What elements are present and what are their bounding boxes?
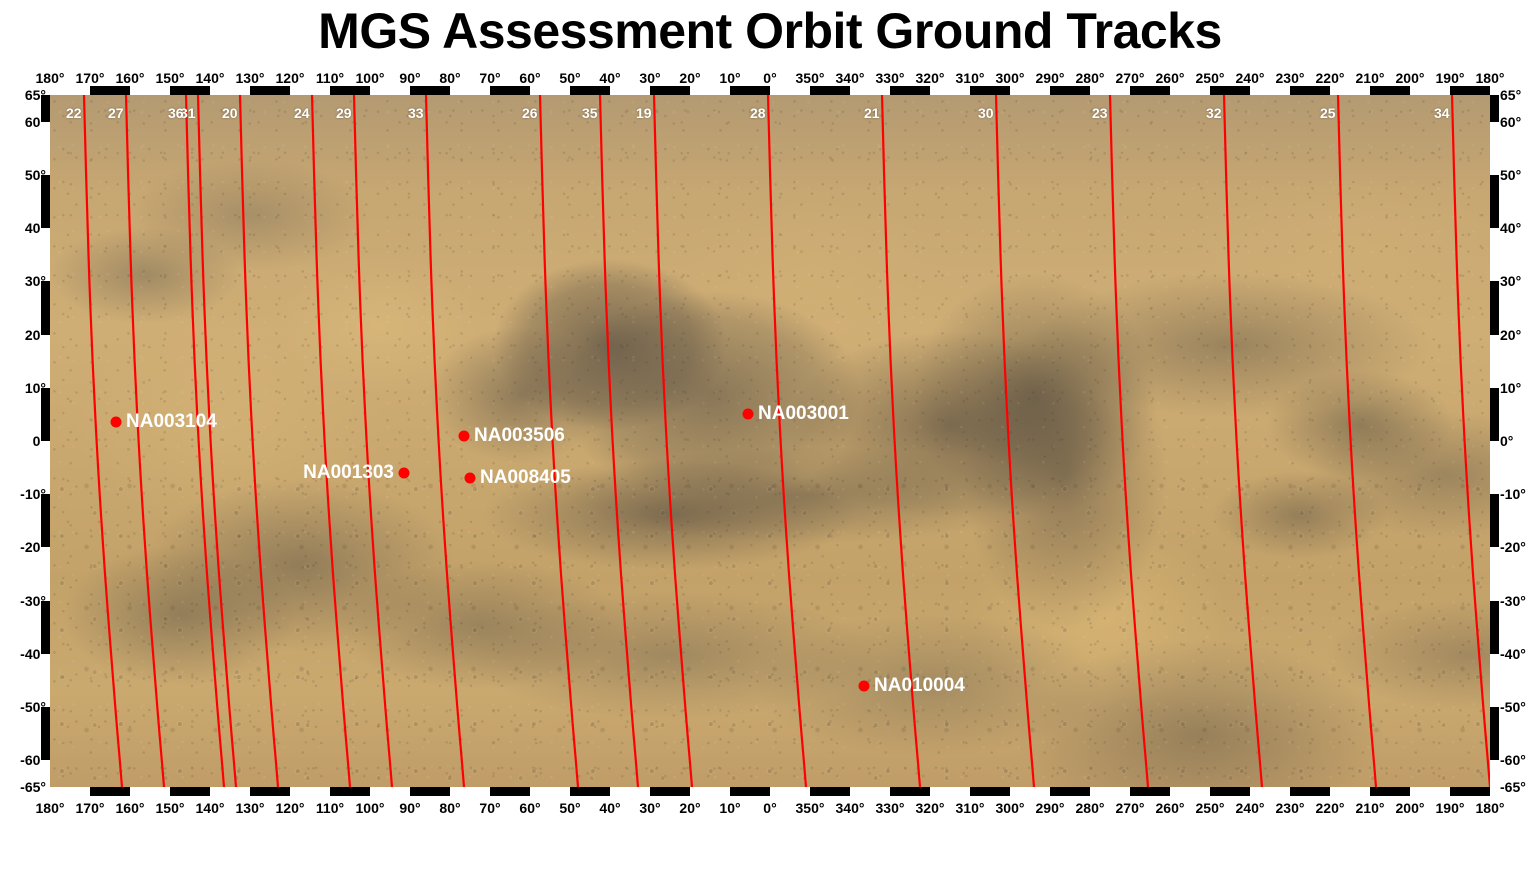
border-tick-cell	[1450, 787, 1490, 796]
border-tick-cell	[330, 86, 370, 95]
border-tick-cell	[1490, 95, 1499, 122]
ground-track-number: 29	[336, 105, 352, 121]
border-tick-cell	[1490, 335, 1499, 388]
border-tick-cell	[1290, 86, 1330, 95]
longitude-tick-label: 350°	[796, 800, 825, 816]
longitude-tick-label: 80°	[439, 800, 460, 816]
border-tick-cell	[130, 86, 170, 95]
longitude-tick-label: 10°	[719, 800, 740, 816]
latitude-tick-label: 0°	[1500, 433, 1513, 449]
longitude-tick-label: 120°	[276, 800, 305, 816]
border-tick-cell	[1250, 787, 1290, 796]
ground-track-line	[1338, 95, 1376, 787]
ground-track-number: 34	[1434, 105, 1450, 121]
border-tick-cell	[1490, 494, 1499, 547]
ground-track-number: 26	[522, 105, 538, 121]
longitude-tick-label: 230°	[1276, 800, 1305, 816]
border-tick-cell	[610, 86, 650, 95]
latitude-tick-label: -20°	[20, 539, 46, 555]
border-tick-cell	[1490, 281, 1499, 334]
landing-site-label: NA008405	[480, 467, 571, 489]
border-tick-cell	[1250, 86, 1290, 95]
longitude-tick-label: 340°	[836, 800, 865, 816]
border-tick-cell	[1370, 787, 1410, 796]
ground-track-number: 36	[168, 105, 184, 121]
longitude-axis-bottom: 180°170°160°150°140°130°120°110°100°90°8…	[0, 800, 1540, 816]
border-tick-cell	[730, 787, 770, 796]
longitude-tick-label: 60°	[519, 70, 540, 86]
border-tick-cell	[690, 86, 730, 95]
latitude-tick-label: 10°	[1500, 380, 1521, 396]
longitude-tick-label: 70°	[479, 70, 500, 86]
longitude-tick-label: 280°	[1076, 70, 1105, 86]
longitude-tick-label: 270°	[1116, 70, 1145, 86]
border-tick-cell	[50, 86, 90, 95]
longitude-tick-label: 270°	[1116, 800, 1145, 816]
ground-track-number: 22	[66, 105, 82, 121]
longitude-tick-label: 310°	[956, 70, 985, 86]
longitude-tick-label: 50°	[559, 70, 580, 86]
longitude-tick-label: 130°	[236, 70, 265, 86]
border-tick-cell	[930, 86, 970, 95]
ground-track-line	[312, 95, 350, 787]
border-tick-cell	[370, 787, 410, 796]
longitude-tick-label: 170°	[76, 800, 105, 816]
mars-map-canvas[interactable]: 223124332635192821302332253427362029NA00…	[50, 95, 1490, 787]
longitude-tick-label: 90°	[399, 70, 420, 86]
latitude-tick-label: 30°	[25, 273, 46, 289]
border-tick-cell	[1490, 654, 1499, 707]
latitude-tick-label: -40°	[1500, 646, 1526, 662]
ground-track-lines	[50, 95, 1490, 787]
border-tick-cell	[1490, 601, 1499, 654]
longitude-tick-label: 290°	[1036, 70, 1065, 86]
longitude-tick-label: 120°	[276, 70, 305, 86]
border-tick-cell	[850, 86, 890, 95]
border-tick-cell	[330, 787, 370, 796]
latitude-tick-label: -50°	[1500, 699, 1526, 715]
latitude-tick-label: -40°	[20, 646, 46, 662]
longitude-tick-label: 130°	[236, 800, 265, 816]
latitude-tick-label: -10°	[1500, 486, 1526, 502]
longitude-tick-label: 90°	[399, 800, 420, 816]
border-tick-cell	[210, 86, 250, 95]
ground-track-line	[240, 95, 278, 787]
border-tick-cell	[170, 787, 210, 796]
latitude-tick-label: -30°	[1500, 593, 1526, 609]
border-tick-cell	[250, 787, 290, 796]
ground-track-line	[654, 95, 692, 787]
latitude-tick-label: 60°	[1500, 114, 1521, 130]
ground-track-line	[186, 95, 224, 787]
ground-track-line	[1224, 95, 1262, 787]
landing-site-label: NA003104	[126, 411, 217, 433]
page-title: MGS Assessment Orbit Ground Tracks	[0, 2, 1540, 60]
longitude-tick-label: 200°	[1396, 70, 1425, 86]
latitude-tick-label: -50°	[20, 699, 46, 715]
border-tick-cell	[810, 86, 850, 95]
border-tick-cell	[890, 787, 930, 796]
longitude-tick-label: 230°	[1276, 70, 1305, 86]
longitude-tick-label: 190°	[1436, 800, 1465, 816]
border-tick-cell	[490, 787, 530, 796]
landing-site-label: NA003001	[758, 403, 849, 425]
longitude-tick-label: 240°	[1236, 800, 1265, 816]
border-tick-cell	[1290, 787, 1330, 796]
longitude-tick-label: 150°	[156, 800, 185, 816]
longitude-tick-label: 170°	[76, 70, 105, 86]
longitude-tick-label: 110°	[316, 70, 344, 86]
longitude-tick-label: 180°	[1476, 70, 1505, 86]
longitude-tick-label: 320°	[916, 70, 945, 86]
ground-track-number: 27	[108, 105, 124, 121]
longitude-tick-label: 280°	[1076, 800, 1105, 816]
ground-track-line	[126, 95, 164, 787]
longitude-tick-label: 340°	[836, 70, 865, 86]
longitude-tick-label: 180°	[36, 800, 65, 816]
border-tick-cell	[1050, 787, 1090, 796]
longitude-tick-label: 30°	[639, 70, 660, 86]
ground-track-line	[198, 95, 236, 787]
ground-track-line	[354, 95, 392, 787]
border-tick-cell	[530, 787, 570, 796]
border-tick-cell	[1170, 787, 1210, 796]
longitude-tick-label: 250°	[1196, 800, 1225, 816]
ground-track-number: 20	[222, 105, 238, 121]
border-tick-cell	[50, 787, 90, 796]
border-tick-cell	[290, 787, 330, 796]
longitude-tick-label: 320°	[916, 800, 945, 816]
border-tick-cell	[1090, 787, 1130, 796]
landing-site-label: NA003506	[474, 425, 565, 447]
border-tick-cell	[1130, 86, 1170, 95]
checkerboard-border-right	[1490, 95, 1499, 787]
latitude-tick-label: -60°	[1500, 752, 1526, 768]
landing-site-marker[interactable]	[743, 409, 754, 420]
border-tick-cell	[410, 787, 450, 796]
longitude-tick-label: 150°	[156, 70, 185, 86]
longitude-tick-label: 70°	[479, 800, 500, 816]
longitude-tick-label: 210°	[1356, 800, 1385, 816]
checkerboard-border-top	[50, 86, 1490, 95]
longitude-tick-label: 300°	[996, 800, 1025, 816]
latitude-tick-label: 50°	[25, 167, 46, 183]
landing-site-label: NA001303	[303, 462, 394, 484]
ground-track-line	[426, 95, 464, 787]
longitude-tick-label: 310°	[956, 800, 985, 816]
ground-track-line	[600, 95, 638, 787]
ground-track-line	[996, 95, 1034, 787]
longitude-tick-label: 20°	[679, 70, 700, 86]
border-tick-cell	[1490, 228, 1499, 281]
ground-track-number: 24	[294, 105, 310, 121]
border-tick-cell	[690, 787, 730, 796]
longitude-tick-label: 240°	[1236, 70, 1265, 86]
border-tick-cell	[730, 86, 770, 95]
latitude-tick-label: 60°	[25, 114, 46, 130]
ground-track-number: 19	[636, 105, 652, 121]
border-tick-cell	[1490, 760, 1499, 787]
border-tick-cell	[130, 787, 170, 796]
longitude-tick-label: 140°	[196, 70, 225, 86]
latitude-tick-label: 65°	[1500, 87, 1521, 103]
longitude-tick-label: 300°	[996, 70, 1025, 86]
landing-site-marker[interactable]	[465, 473, 476, 484]
landing-site-marker[interactable]	[399, 467, 410, 478]
latitude-tick-label: -60°	[20, 752, 46, 768]
landing-site-marker[interactable]	[859, 680, 870, 691]
border-tick-cell	[490, 86, 530, 95]
longitude-tick-label: 330°	[876, 70, 905, 86]
border-tick-cell	[810, 787, 850, 796]
latitude-tick-label: -20°	[1500, 539, 1526, 555]
border-tick-cell	[450, 86, 490, 95]
longitude-tick-label: 80°	[439, 70, 460, 86]
latitude-tick-label: 40°	[1500, 220, 1521, 236]
border-tick-cell	[770, 86, 810, 95]
latitude-tick-label: -30°	[20, 593, 46, 609]
longitude-tick-label: 10°	[719, 70, 740, 86]
ground-track-number: 23	[1092, 105, 1108, 121]
border-tick-cell	[1210, 86, 1250, 95]
latitude-tick-label: 65°	[25, 87, 46, 103]
latitude-tick-label: 10°	[25, 380, 46, 396]
latitude-tick-label: 30°	[1500, 273, 1521, 289]
border-tick-cell	[970, 86, 1010, 95]
border-tick-cell	[570, 787, 610, 796]
ground-track-number: 33	[408, 105, 424, 121]
longitude-tick-label: 290°	[1036, 800, 1065, 816]
border-tick-cell	[1410, 86, 1450, 95]
longitude-tick-label: 110°	[316, 800, 344, 816]
border-tick-cell	[210, 787, 250, 796]
latitude-tick-label: -65°	[1500, 779, 1526, 795]
latitude-tick-label: 20°	[1500, 327, 1521, 343]
mgs-ground-track-map-page: MGS Assessment Orbit Ground Tracks 180°1…	[0, 0, 1540, 886]
border-tick-cell	[770, 787, 810, 796]
longitude-tick-label: 40°	[599, 800, 620, 816]
latitude-tick-label: -65°	[20, 779, 46, 795]
border-tick-cell	[610, 787, 650, 796]
longitude-tick-label: 0°	[763, 70, 776, 86]
border-tick-cell	[1090, 86, 1130, 95]
longitude-tick-label: 260°	[1156, 70, 1185, 86]
ground-track-number: 30	[978, 105, 994, 121]
border-tick-cell	[410, 86, 450, 95]
longitude-tick-label: 50°	[559, 800, 580, 816]
border-tick-cell	[450, 787, 490, 796]
border-tick-cell	[290, 86, 330, 95]
border-tick-cell	[1490, 122, 1499, 175]
latitude-tick-label: 20°	[25, 327, 46, 343]
landing-site-marker[interactable]	[111, 417, 122, 428]
border-tick-cell	[1330, 787, 1370, 796]
ground-track-number: 28	[750, 105, 766, 121]
border-tick-cell	[1050, 86, 1090, 95]
border-tick-cell	[1450, 86, 1490, 95]
border-tick-cell	[890, 86, 930, 95]
border-tick-cell	[250, 86, 290, 95]
border-tick-cell	[970, 787, 1010, 796]
border-tick-cell	[170, 86, 210, 95]
longitude-tick-label: 160°	[116, 70, 145, 86]
ground-track-line	[1452, 95, 1490, 787]
border-tick-cell	[1010, 86, 1050, 95]
border-tick-cell	[1490, 441, 1499, 494]
border-tick-cell	[370, 86, 410, 95]
border-tick-cell	[1490, 547, 1499, 600]
ground-track-number: 32	[1206, 105, 1222, 121]
border-tick-cell	[570, 86, 610, 95]
longitude-tick-label: 140°	[196, 800, 225, 816]
border-tick-cell	[1370, 86, 1410, 95]
longitude-tick-label: 40°	[599, 70, 620, 86]
longitude-tick-label: 210°	[1356, 70, 1385, 86]
longitude-tick-label: 160°	[116, 800, 145, 816]
border-tick-cell	[1170, 86, 1210, 95]
longitude-tick-label: 330°	[876, 800, 905, 816]
ground-track-number: 25	[1320, 105, 1336, 121]
border-tick-cell	[650, 787, 690, 796]
latitude-tick-label: 40°	[25, 220, 46, 236]
longitude-tick-label: 0°	[763, 800, 776, 816]
border-tick-cell	[1490, 175, 1499, 228]
ground-track-number: 21	[864, 105, 880, 121]
border-tick-cell	[530, 86, 570, 95]
longitude-tick-label: 180°	[36, 70, 65, 86]
ground-track-line	[1110, 95, 1148, 787]
border-tick-cell	[650, 86, 690, 95]
longitude-tick-label: 30°	[639, 800, 660, 816]
longitude-tick-label: 200°	[1396, 800, 1425, 816]
border-tick-cell	[1490, 388, 1499, 441]
longitude-tick-label: 260°	[1156, 800, 1185, 816]
longitude-tick-label: 350°	[796, 70, 825, 86]
longitude-tick-label: 100°	[356, 70, 385, 86]
border-tick-cell	[1210, 787, 1250, 796]
longitude-tick-label: 220°	[1316, 800, 1345, 816]
ground-track-number: 35	[582, 105, 598, 121]
border-tick-cell	[1490, 707, 1499, 760]
longitude-tick-label: 250°	[1196, 70, 1225, 86]
border-tick-cell	[1010, 787, 1050, 796]
border-tick-cell	[90, 787, 130, 796]
border-tick-cell	[930, 787, 970, 796]
border-tick-cell	[1130, 787, 1170, 796]
longitude-tick-label: 60°	[519, 800, 540, 816]
longitude-tick-label: 190°	[1436, 70, 1465, 86]
longitude-tick-label: 20°	[679, 800, 700, 816]
border-tick-cell	[1410, 787, 1450, 796]
latitude-tick-label: -10°	[20, 486, 46, 502]
longitude-tick-label: 180°	[1476, 800, 1505, 816]
ground-track-line	[768, 95, 806, 787]
checkerboard-border-bottom	[50, 787, 1490, 796]
border-tick-cell	[1330, 86, 1370, 95]
landing-site-label: NA010004	[874, 675, 965, 697]
longitude-axis-top: 180°170°160°150°140°130°120°110°100°90°8…	[0, 70, 1540, 86]
latitude-tick-label: 0°	[33, 433, 46, 449]
longitude-tick-label: 220°	[1316, 70, 1345, 86]
latitude-tick-label: 50°	[1500, 167, 1521, 183]
landing-site-marker[interactable]	[459, 430, 470, 441]
border-tick-cell	[850, 787, 890, 796]
longitude-tick-label: 100°	[356, 800, 385, 816]
ground-track-line	[84, 95, 122, 787]
border-tick-cell	[90, 86, 130, 95]
